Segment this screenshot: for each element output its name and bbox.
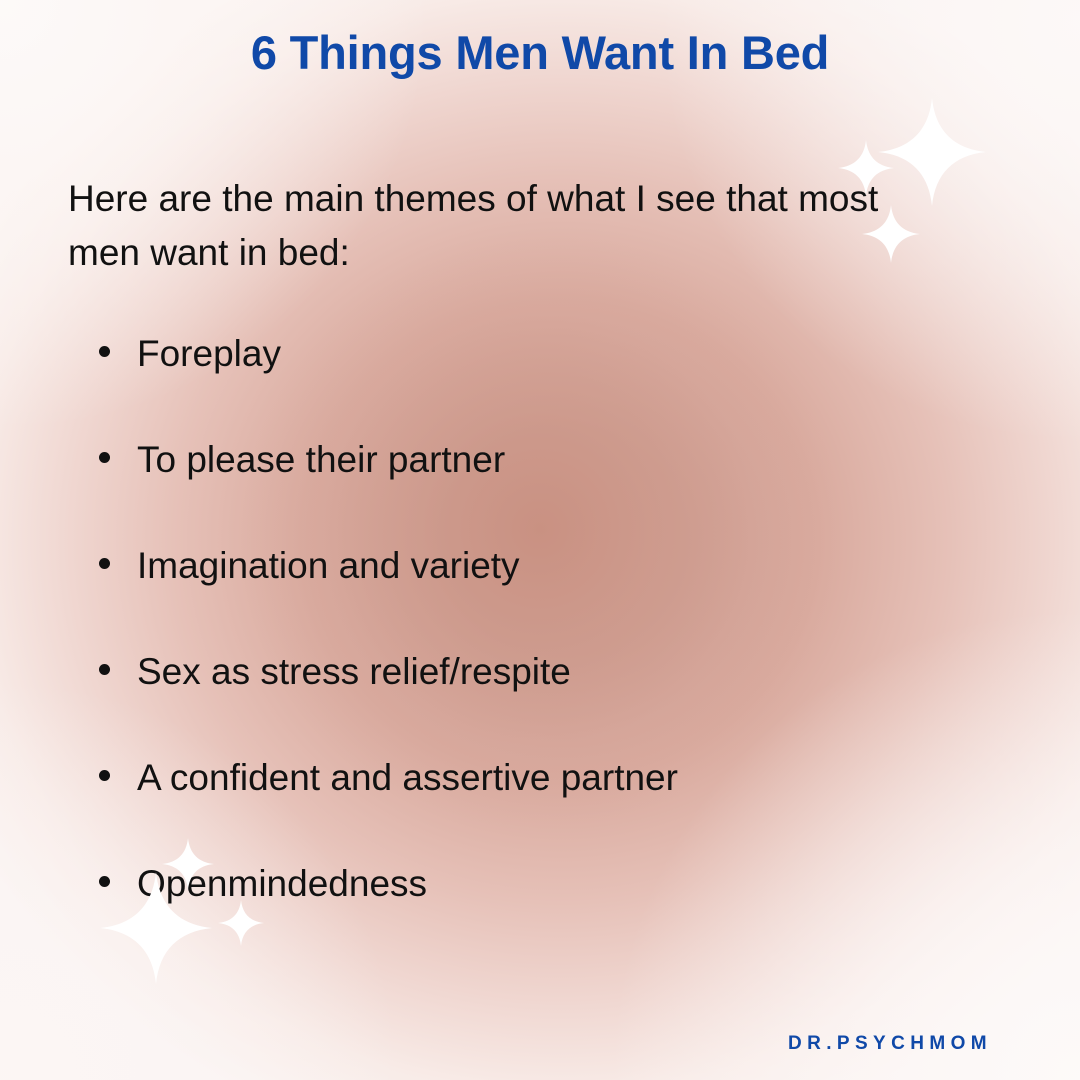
brand-watermark: DR.PSYCHMOM [788, 1033, 992, 1055]
list-item: To please their partner [95, 436, 995, 542]
bullet-dot-icon [99, 346, 110, 357]
page-title: 6 Things Men Want In Bed [0, 24, 1080, 83]
list-item-label: A confident and assertive partner [137, 757, 678, 798]
bullet-dot-icon [99, 770, 110, 781]
bullet-dot-icon [99, 876, 110, 887]
intro-paragraph: Here are the main themes of what I see t… [68, 172, 930, 280]
list-item: Sex as stress relief/respite [95, 648, 995, 754]
poster-content: 6 Things Men Want In Bed Here are the ma… [0, 0, 1080, 1080]
bullet-dot-icon [99, 558, 110, 569]
list-item: Imagination and variety [95, 542, 995, 648]
list-item: Foreplay [95, 330, 995, 436]
list-item-label: Openmindedness [137, 863, 427, 904]
list-item-label: Sex as stress relief/respite [137, 651, 571, 692]
poster-canvas: 6 Things Men Want In Bed Here are the ma… [0, 0, 1080, 1080]
list-item-label: To please their partner [137, 439, 505, 480]
bullet-dot-icon [99, 664, 110, 675]
list-item-label: Imagination and variety [137, 545, 520, 586]
themes-list: Foreplay To please their partner Imagina… [95, 330, 995, 966]
list-item: Openmindedness [95, 860, 995, 966]
list-item-label: Foreplay [137, 333, 281, 374]
bullet-dot-icon [99, 452, 110, 463]
list-item: A confident and assertive partner [95, 754, 995, 860]
